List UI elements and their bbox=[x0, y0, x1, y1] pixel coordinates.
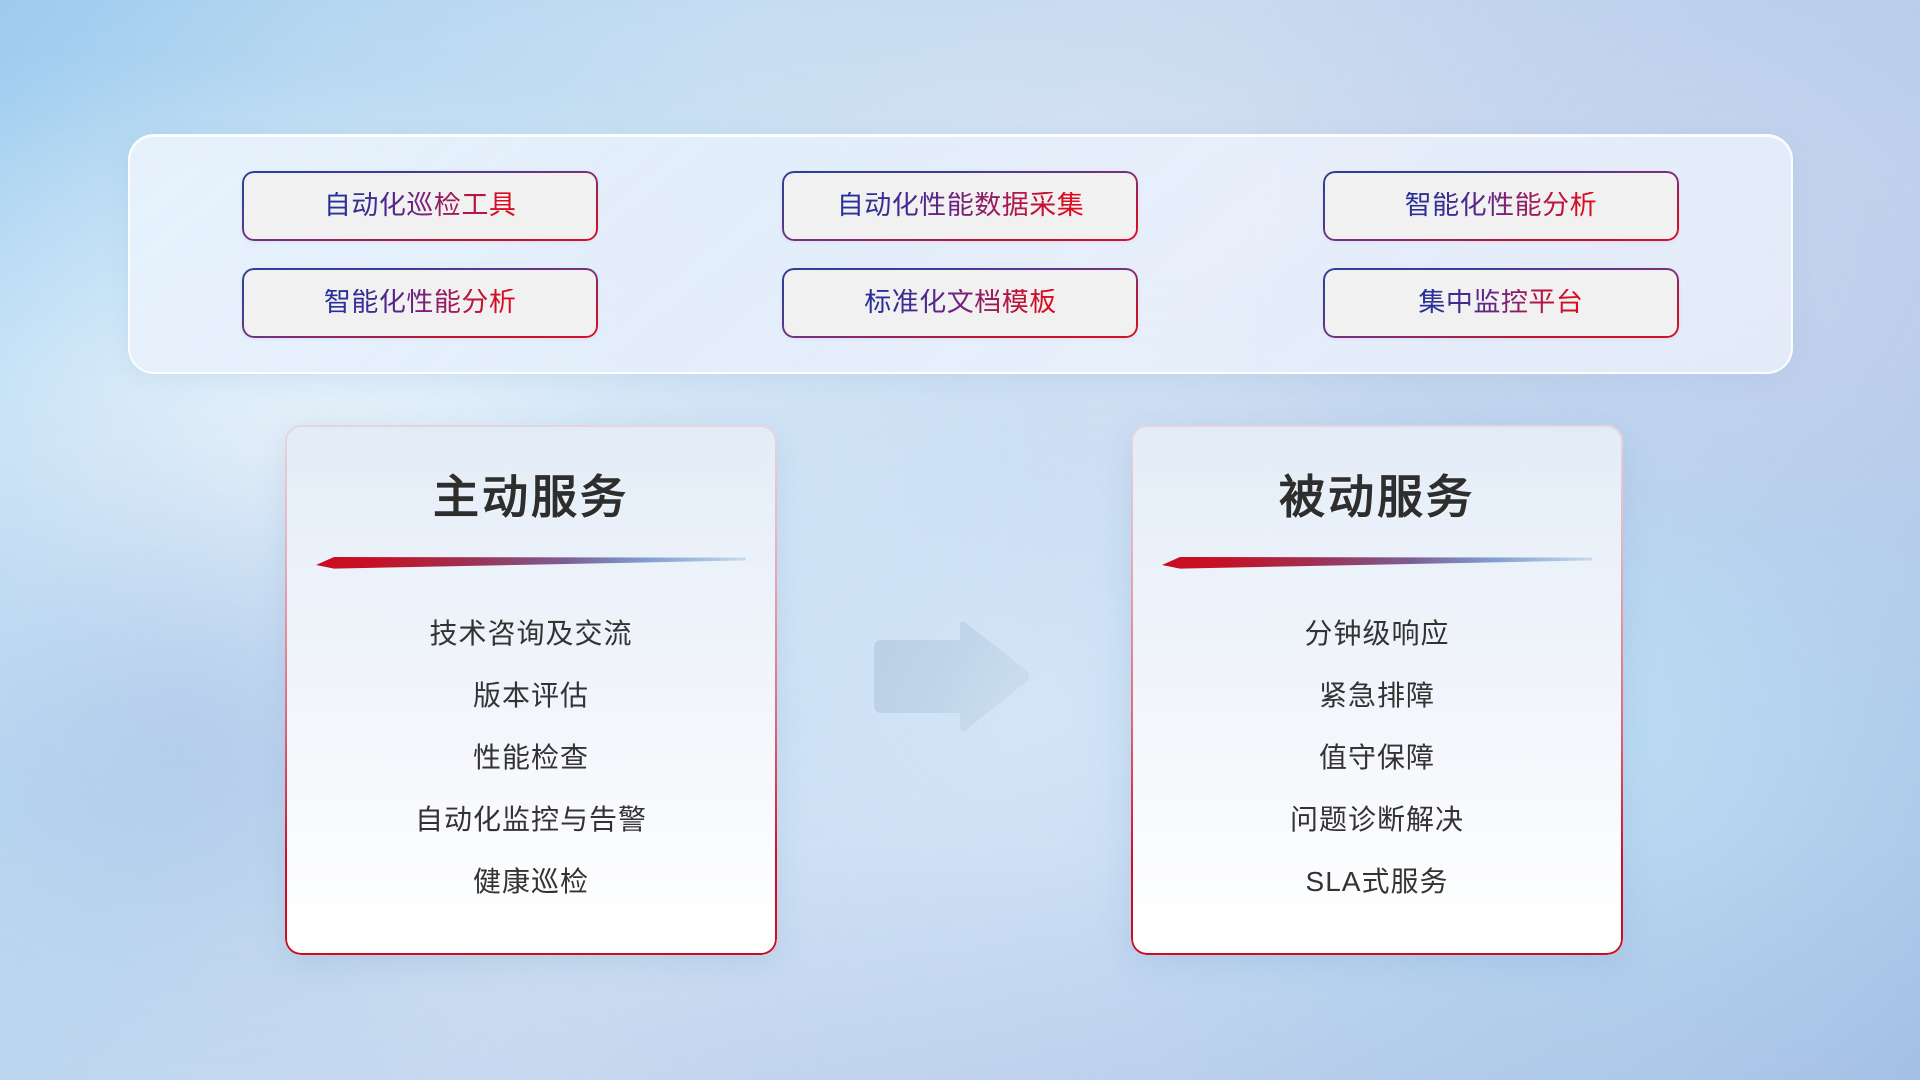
list-item[interactable]: 性能检查 bbox=[285, 727, 777, 789]
list-item[interactable]: 版本评估 bbox=[285, 665, 777, 727]
tool-pill-label: 标准化文档模板 bbox=[864, 289, 1057, 316]
tool-pill-automated-perf-collection[interactable]: 自动化性能数据采集 bbox=[782, 171, 1138, 241]
card-divider-reactive bbox=[1162, 553, 1592, 569]
tool-pill-label: 智能化性能分析 bbox=[324, 289, 517, 316]
arrow-right-icon bbox=[868, 618, 1034, 738]
capability-tools-panel: 自动化巡检工具 自动化性能数据采集 智能化性能分析 智能化性能分析 标准化文档模… bbox=[128, 134, 1793, 374]
tool-pill-intelligent-perf-analysis-a[interactable]: 智能化性能分析 bbox=[1323, 171, 1679, 241]
card-title-proactive: 主动服务 bbox=[285, 461, 777, 527]
service-card-proactive: 主动服务 技术咨询及交流 版本评估 性能检查 自动化监控与告警 健康巡检 bbox=[285, 425, 777, 955]
list-item[interactable]: 健康巡检 bbox=[285, 851, 777, 913]
tool-pill-label: 集中监控平台 bbox=[1418, 289, 1583, 316]
tool-pill-label: 智能化性能分析 bbox=[1405, 192, 1598, 219]
service-list-proactive: 技术咨询及交流 版本评估 性能检查 自动化监控与告警 健康巡检 bbox=[285, 603, 777, 913]
service-card-reactive: 被动服务 分钟级响应 紧急排障 值守保障 问题诊断解决 SLA式服务 bbox=[1131, 425, 1623, 955]
list-item[interactable]: 紧急排障 bbox=[1131, 665, 1623, 727]
tool-pill-automated-inspection[interactable]: 自动化巡检工具 bbox=[242, 171, 598, 241]
list-item[interactable]: 问题诊断解决 bbox=[1131, 789, 1623, 851]
list-item[interactable]: 分钟级响应 bbox=[1131, 603, 1623, 665]
list-item[interactable]: 技术咨询及交流 bbox=[285, 603, 777, 665]
tool-pill-label: 自动化性能数据采集 bbox=[837, 192, 1085, 219]
list-item[interactable]: SLA式服务 bbox=[1131, 851, 1623, 913]
tool-pill-standard-doc-template[interactable]: 标准化文档模板 bbox=[782, 268, 1138, 338]
tool-pill-label: 自动化巡检工具 bbox=[324, 192, 517, 219]
card-title-reactive: 被动服务 bbox=[1131, 461, 1623, 527]
tool-pill-intelligent-perf-analysis-b[interactable]: 智能化性能分析 bbox=[242, 268, 598, 338]
card-divider-proactive bbox=[316, 553, 746, 569]
service-list-reactive: 分钟级响应 紧急排障 值守保障 问题诊断解决 SLA式服务 bbox=[1131, 603, 1623, 913]
list-item[interactable]: 自动化监控与告警 bbox=[285, 789, 777, 851]
list-item[interactable]: 值守保障 bbox=[1131, 727, 1623, 789]
tool-pill-centralized-monitoring[interactable]: 集中监控平台 bbox=[1323, 268, 1679, 338]
